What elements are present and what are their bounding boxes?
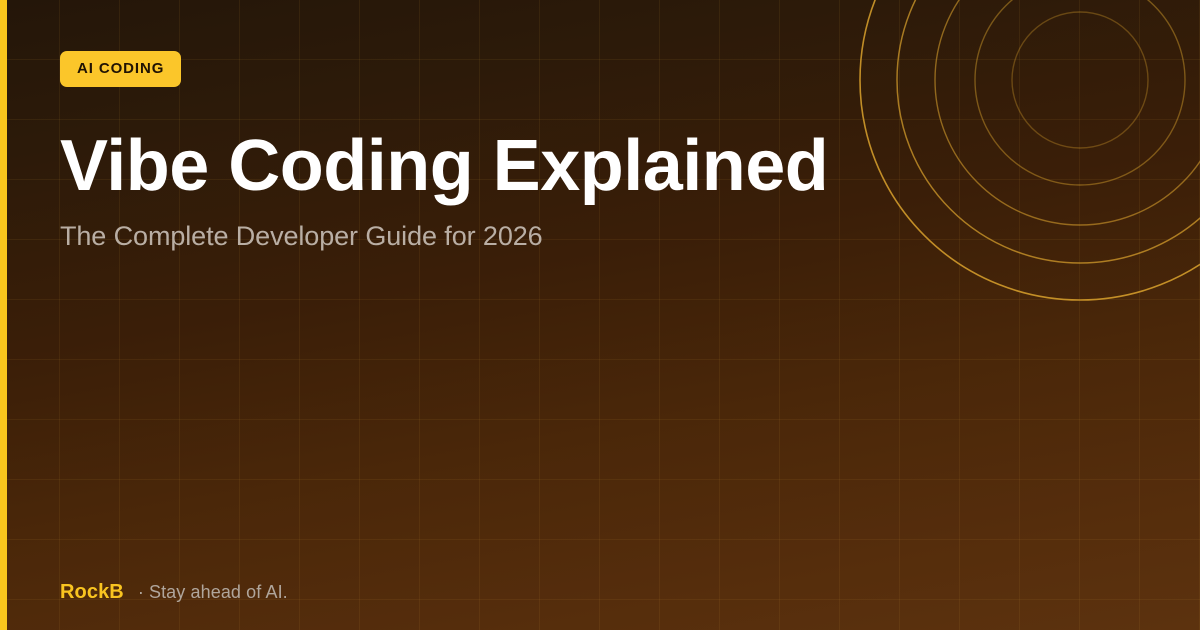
footer: RockB ·Stay ahead of AI. xyxy=(60,581,288,604)
social-card-banner: AI CODING Vibe Coding Explained The Comp… xyxy=(0,0,1200,630)
banner-content: AI CODING Vibe Coding Explained The Comp… xyxy=(60,51,1140,252)
left-accent-bar xyxy=(0,0,7,630)
category-badge: AI CODING xyxy=(60,51,181,87)
brand-tagline: ·Stay ahead of AI. xyxy=(138,582,288,603)
brand-name: RockB xyxy=(60,581,124,604)
separator-dot: · xyxy=(138,582,144,602)
page-title: Vibe Coding Explained xyxy=(60,129,1140,204)
page-subtitle: The Complete Developer Guide for 2026 xyxy=(60,220,1140,252)
tagline-text: Stay ahead of AI. xyxy=(149,582,288,602)
